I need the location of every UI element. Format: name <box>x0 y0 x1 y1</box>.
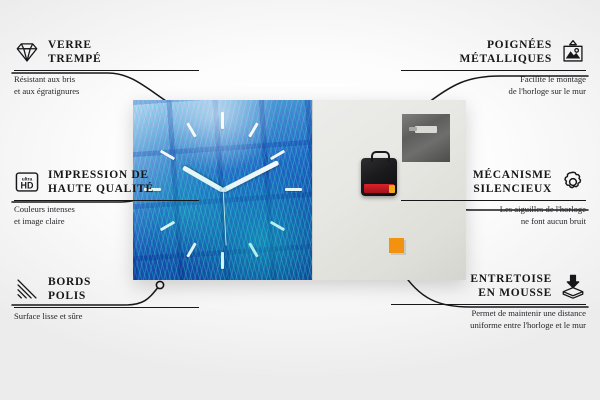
feature-subtitle: Facilite le montagede l'horloge sur le m… <box>401 74 586 97</box>
quartz-mechanism <box>361 158 397 196</box>
feature-subtitle: Permet de maintenir une distanceuniforme… <box>391 308 586 331</box>
feature-foam-spacer[interactable]: ENTRETOISEEN MOUSSE Permet de maintenir … <box>391 272 586 331</box>
feature-title: MÉCANISMESILENCIEUX <box>473 168 552 196</box>
divider <box>14 307 199 308</box>
feature-subtitle: Les aiguilles de l'horlogene font aucun … <box>401 204 586 227</box>
battery-plus-terminal <box>389 185 395 193</box>
polished-edge-icon <box>14 276 40 302</box>
divider <box>14 70 199 71</box>
diamond-icon <box>14 39 40 65</box>
foam-spacer <box>389 238 404 253</box>
second-hand <box>222 190 226 246</box>
feature-tempered-glass[interactable]: VERRETREMPÉ Résistant aux briset aux égr… <box>14 38 199 97</box>
tick-mark <box>221 112 224 129</box>
hanging-picture-icon <box>560 39 586 65</box>
feature-polished-edges[interactable]: BORDSPOLIS Surface lisse et sûre <box>14 275 199 323</box>
tick-mark <box>221 252 224 269</box>
feature-subtitle: Couleurs intenseset image claire <box>14 204 199 227</box>
clock-hub <box>221 188 225 192</box>
tick-mark <box>186 122 197 137</box>
gear-icon <box>560 169 586 195</box>
divider <box>391 304 586 305</box>
feature-metal-handles[interactable]: POIGNÉESMÉTALLIQUES Facilite le montaged… <box>401 38 586 97</box>
mechanism-hanging-loop <box>371 151 390 162</box>
divider <box>401 70 586 71</box>
ultra-hd-icon: ultra HD <box>14 169 40 195</box>
infographic-canvas: VERRETREMPÉ Résistant aux briset aux égr… <box>0 0 600 400</box>
hanger-slot <box>415 126 437 133</box>
feature-title: IMPRESSION DEHAUTE QUALITÉ <box>48 168 154 196</box>
feature-subtitle: Résistant aux briset aux égratignures <box>14 74 199 97</box>
feature-title: ENTRETOISEEN MOUSSE <box>470 272 552 300</box>
tick-mark <box>285 188 302 191</box>
feature-silent-mechanism[interactable]: MÉCANISMESILENCIEUX Les aiguilles de l'h… <box>401 168 586 227</box>
tick-mark <box>270 221 285 232</box>
divider <box>14 200 199 201</box>
tick-mark <box>270 150 285 161</box>
tick-mark <box>186 242 197 257</box>
tick-mark <box>160 150 175 161</box>
feature-title: BORDSPOLIS <box>48 275 91 303</box>
metal-hanger-plate <box>402 114 450 162</box>
hanger-slot-secondary <box>409 127 417 131</box>
feature-title: POIGNÉESMÉTALLIQUES <box>460 38 552 66</box>
feature-title: VERRETREMPÉ <box>48 38 101 66</box>
down-arrow-stack-icon <box>560 273 586 299</box>
ultra-hd-icon-bottom-text: HD <box>21 181 34 191</box>
feature-subtitle: Surface lisse et sûre <box>14 311 199 323</box>
minute-hand <box>222 160 280 193</box>
feature-high-quality-print[interactable]: ultra HD IMPRESSION DEHAUTE QUALITÉ Coul… <box>14 168 199 227</box>
tick-mark <box>248 122 259 137</box>
divider <box>401 200 586 201</box>
tick-mark <box>248 242 259 257</box>
